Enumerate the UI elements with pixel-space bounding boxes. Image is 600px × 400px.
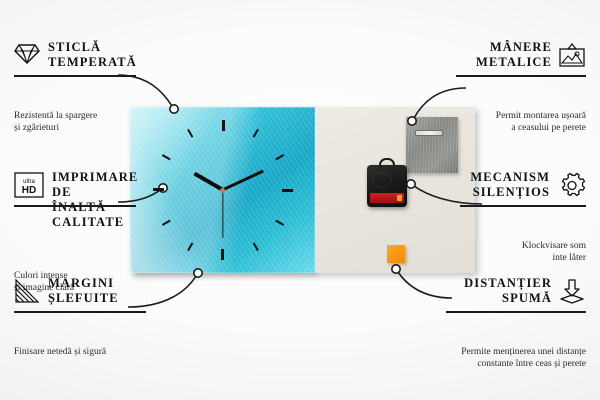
product-image: [130, 107, 475, 273]
feature-desc-line2: și zgârieturi: [14, 122, 144, 134]
foam-spacer-pad: [387, 245, 405, 263]
feature-silent-mechanism: MECANISM SILENȚIOS Klockvisare som inte …: [452, 170, 586, 264]
feature-title-line2: SPUMĂ: [438, 291, 552, 306]
clock-tick: [223, 189, 293, 191]
clock-face: [130, 107, 315, 273]
divider: [446, 311, 586, 313]
feature-desc-line1: Rezistentă la spargere: [14, 110, 144, 122]
feature-metal-handles: MÂNERE METALICE Permit montarea ușoară a…: [448, 40, 586, 134]
feature-desc-line1: Finisare netedă și sigură: [14, 346, 154, 358]
feature-title-line2: METALICE: [448, 55, 552, 70]
feature-title-line1: DISTANȚIER: [438, 276, 552, 291]
gear-icon: [558, 172, 586, 199]
feature-desc-line2: inte låter: [452, 252, 586, 264]
diamond-icon: [14, 43, 40, 65]
feature-title-line1: MECANISM: [452, 170, 550, 185]
feature-polished-edges: MARGINI ȘLEFUITE Finisare netedă și sigu…: [14, 276, 154, 358]
clock-center-pin: [220, 188, 225, 193]
movement-dial: [372, 172, 392, 188]
feature-title-line1: MARGINI: [48, 276, 154, 291]
divider: [14, 75, 136, 77]
clock-sec-hand: [222, 190, 223, 238]
feature-title-line1: STICLĂ: [48, 40, 144, 55]
divider: [460, 205, 586, 207]
foam-spacer-icon: [558, 278, 586, 306]
feature-desc-line1: Permite menținerea unei distanțe: [438, 346, 586, 358]
divider: [456, 75, 586, 77]
feature-desc-line2: a ceasului pe perete: [448, 122, 586, 134]
hanger-slot: [415, 130, 443, 136]
feature-title-line2: ȘLEFUITE: [48, 291, 154, 306]
battery: [370, 193, 404, 203]
feature-desc-line1: Permit montarea ușoară: [448, 110, 586, 122]
feature-desc-line2: constante între ceas și perete: [438, 358, 586, 370]
divider: [14, 311, 146, 313]
polished-edge-icon: [14, 278, 40, 304]
feature-foam-spacer: DISTANȚIER SPUMĂ Permite menținerea unei…: [438, 276, 586, 370]
feature-title-line1: MÂNERE: [448, 40, 552, 55]
feature-desc-line1: Klockvisare som: [452, 240, 586, 252]
divider: [14, 205, 136, 207]
feature-tempered-glass: STICLĂ TEMPERATĂ Rezistentă la spargere …: [14, 40, 144, 134]
quartz-movement: [367, 165, 407, 207]
ultra-hd-icon: ultra HD: [14, 172, 44, 198]
svg-text:HD: HD: [22, 185, 36, 196]
feature-title-line2: TEMPERATĂ: [48, 55, 144, 70]
picture-hanger-icon: [558, 43, 586, 69]
clock-tick: [222, 120, 224, 190]
movement-hook: [379, 158, 395, 168]
clock-tick: [153, 189, 223, 191]
feature-title-line2: SILENȚIOS: [452, 185, 550, 200]
